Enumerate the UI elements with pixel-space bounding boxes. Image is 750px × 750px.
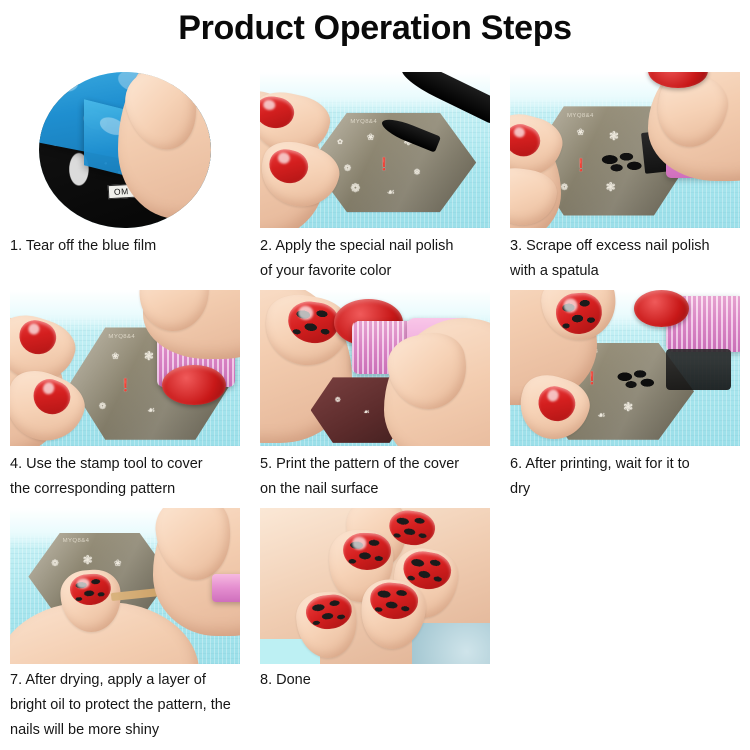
step-5-photo-wrap: ❁ ☙ (260, 290, 490, 446)
step-7-photo-apply-bright-oil: MYQ8&4 ❁ ❃ ❀ ❗ ☙ (10, 508, 240, 664)
plate-motif: ❁ (350, 182, 360, 194)
nail-shine (352, 537, 367, 550)
nail-shine (297, 305, 314, 321)
plate-motif: ❗ (118, 379, 133, 391)
plate-motif: ☙ (363, 409, 369, 416)
step-cell-empty (500, 502, 750, 743)
step-3-caption: 3. Scrape off excess nail polish with a … (500, 228, 750, 284)
plate-motif: ❃ (83, 554, 93, 566)
step-cell-4: MYQ8&4 ❀ ❃ ❗ ❁ ☙ (0, 284, 250, 502)
plate-motif: ❀ (367, 133, 375, 142)
step-1-photo-wrap: OM -17 (10, 72, 240, 228)
plate-motif: ☙ (597, 411, 605, 420)
step-1-photo-tear-blue-film: OM -17 (39, 72, 211, 228)
step-1-caption: 1. Tear off the blue film (0, 228, 250, 259)
nail-shine (563, 298, 578, 313)
step-5-photo-print-pattern-on-nail: ❁ ☙ (260, 290, 490, 446)
plate-motif: ❁ (51, 559, 59, 568)
step-5-caption: 5. Print the pattern of the cover on the… (250, 446, 500, 502)
nail-shine (41, 381, 56, 396)
plate-motif: ❀ (577, 128, 585, 137)
step-3-photo-wrap: MYQ8&4 ✿ ❀ ❃ ❗ ❁ ❃ (510, 72, 740, 228)
step-4-photo-wrap: MYQ8&4 ❀ ❃ ❗ ❁ ☙ (10, 290, 240, 446)
scraper-blade (666, 349, 730, 390)
plate-motif: ❅ (413, 168, 421, 177)
step-cell-8: 8. Done (250, 502, 500, 743)
step-2-photo-wrap: MYQ8&4 ✿ ❀ ❃ ❁ ❗ ❅ ❁ ☙ (260, 72, 490, 228)
step-2-caption: 2. Apply the special nail polish of your… (250, 228, 500, 284)
step-cell-2: MYQ8&4 ✿ ❀ ❃ ❁ ❗ ❅ ❁ ☙ (250, 66, 500, 284)
steps-row-1: OM -17 1. Tear off the blue film MYQ8&4 … (0, 66, 750, 284)
step-8-caption: 8. Done (250, 664, 500, 693)
pink-tool-edge (212, 574, 240, 602)
nail-shine (27, 322, 41, 336)
nail-shine (513, 125, 527, 139)
polish-filled-design (614, 368, 659, 391)
plate-motif: ❗ (573, 159, 588, 171)
step-8-photo-finished-nails (260, 508, 490, 664)
step-cell-7: MYQ8&4 ❁ ❃ ❀ ❗ ☙ 7. After d (0, 502, 250, 743)
plate-motif: ✿ (337, 139, 343, 146)
polish-filled-design (599, 150, 647, 174)
step-6-photo-wait-to-dry: MYQ8&4 ✿ ❗ ❁ ❃ ☙ (510, 290, 740, 446)
plate-code-text: MYQ8&4 (567, 113, 594, 118)
step-cell-5: ❁ ☙ 5. Print the pattern of the cover on… (250, 284, 500, 502)
plate-motif: ❃ (144, 350, 154, 362)
plate-motif: ☙ (387, 188, 395, 197)
step-cell-3: MYQ8&4 ✿ ❀ ❃ ❗ ❁ ❃ (500, 66, 750, 284)
plate-motif: ❁ (335, 397, 341, 404)
plate-code-text: MYQ8&4 (108, 334, 135, 339)
step-8-photo-wrap (260, 508, 490, 664)
background-blur (412, 623, 490, 664)
nail-shine (76, 577, 89, 588)
step-3-photo-scrape-excess-polish: MYQ8&4 ✿ ❀ ❃ ❗ ❁ ❃ (510, 72, 740, 228)
plate-motif: ❁ (561, 183, 569, 192)
plate-motif: ❃ (609, 130, 619, 142)
step-4-photo-stamp-tool-cover: MYQ8&4 ❀ ❃ ❗ ❁ ☙ (10, 290, 240, 446)
step-7-photo-wrap: MYQ8&4 ❁ ❃ ❀ ❗ ☙ (10, 508, 240, 664)
nail-shine (545, 388, 559, 402)
step-6-caption: 6. After printing, wait for it to dry (500, 446, 750, 502)
plate-motif: ❁ (344, 164, 352, 173)
steps-row-3: MYQ8&4 ❁ ❃ ❀ ❗ ☙ 7. After d (0, 502, 750, 743)
plate-motif: ❃ (606, 181, 616, 193)
step-6-photo-wrap: MYQ8&4 ✿ ❗ ❁ ❃ ☙ (510, 290, 740, 446)
step-cell-1: OM -17 1. Tear off the blue film (0, 66, 250, 284)
nail-shine (277, 151, 291, 165)
step-cell-6: MYQ8&4 ✿ ❗ ❁ ❃ ☙ (500, 284, 750, 502)
page-title: Product Operation Steps (0, 0, 750, 47)
step-7-caption: 7. After drying, apply a layer of bright… (0, 664, 250, 743)
plate-code-text: MYQ8&4 (63, 538, 90, 543)
plate-motif: ❀ (114, 559, 122, 568)
plate-motif: ❁ (99, 402, 107, 411)
plate-motif: ❗ (377, 158, 392, 170)
step-4-caption: 4. Use the stamp tool to cover the corre… (0, 446, 250, 502)
plate-motif: ❃ (623, 401, 633, 413)
plate-code-text: MYQ8&4 (350, 119, 377, 124)
plate-motif: ❀ (112, 352, 120, 361)
steps-grid: OM -17 1. Tear off the blue film MYQ8&4 … (0, 66, 750, 743)
step-2-photo-apply-nail-polish: MYQ8&4 ✿ ❀ ❃ ❁ ❗ ❅ ❁ ☙ (260, 72, 490, 228)
nail-shine (263, 99, 276, 111)
steps-row-2: MYQ8&4 ❀ ❃ ❗ ❁ ☙ (0, 284, 750, 502)
plate-motif: ☙ (147, 406, 155, 415)
